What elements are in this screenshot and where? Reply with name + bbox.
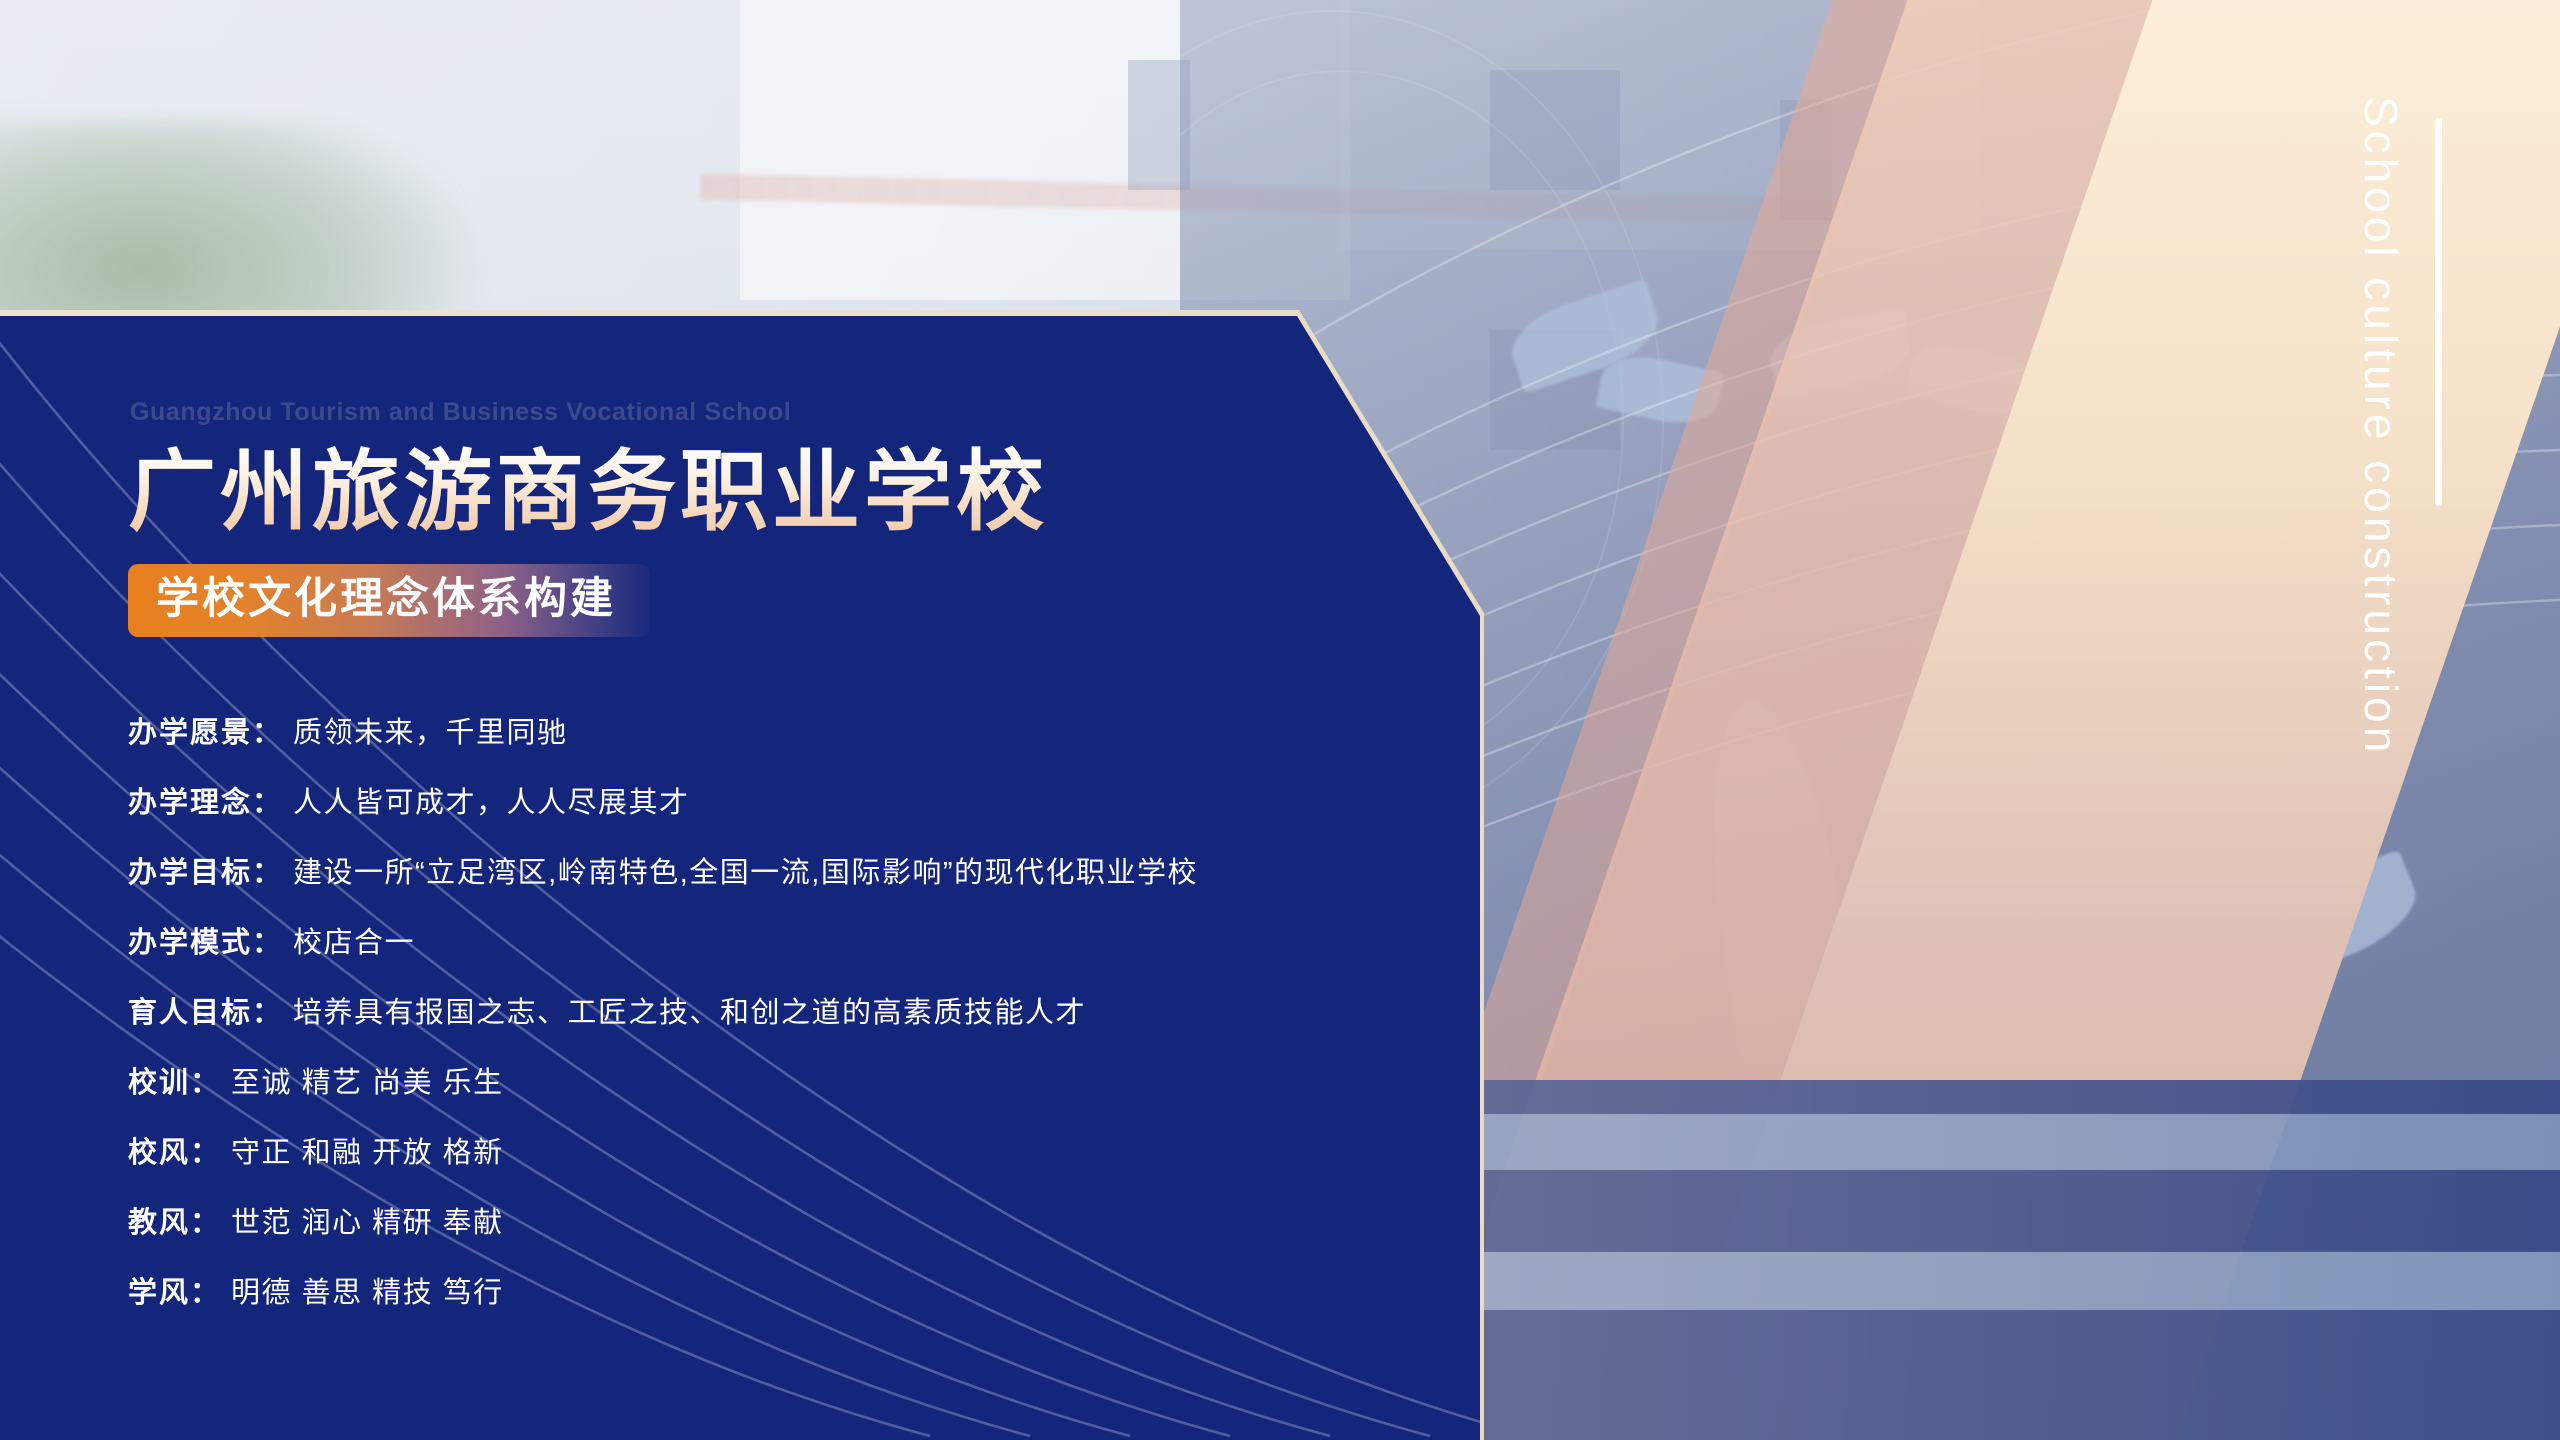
item-value: 守正 和融 开放 格新 xyxy=(231,1129,504,1171)
item-label: 校风： xyxy=(128,1129,221,1171)
item-label: 办学理念： xyxy=(128,779,283,821)
poster-content: Guangzhou Tourism and Business Vocationa… xyxy=(128,398,1448,1339)
item-value: 建设一所“立足湾区,岭南特色,全国一流,国际影响”的现代化职业学校 xyxy=(293,849,1198,891)
school-name-english: Guangzhou Tourism and Business Vocationa… xyxy=(130,398,1448,427)
stripe-light xyxy=(1440,1252,2560,1310)
item-value: 质领未来，千里同驰 xyxy=(293,709,568,751)
stripe-dark xyxy=(1440,1080,2560,1114)
list-item: 办学模式：校店合一 xyxy=(128,919,1448,961)
list-item: 校风：守正 和融 开放 格新 xyxy=(128,1129,1448,1171)
item-label: 办学模式： xyxy=(128,919,283,961)
stripe-dark xyxy=(1440,1170,2560,1252)
subtitle-badge: 学校文化理念体系构建 xyxy=(128,564,650,637)
item-label: 育人目标： xyxy=(128,989,283,1031)
item-value: 培养具有报国之志、工匠之技、和创之道的高素质技能人才 xyxy=(293,989,1086,1031)
item-label: 办学目标： xyxy=(128,849,283,891)
list-item: 办学愿景：质领未来，千里同驰 xyxy=(128,709,1448,751)
item-value: 明德 善思 精技 笃行 xyxy=(231,1269,504,1311)
item-value: 人人皆可成才，人人尽展其才 xyxy=(293,779,690,821)
vertical-caption: School culture construction xyxy=(2354,96,2408,1056)
list-item: 办学理念：人人皆可成才，人人尽展其才 xyxy=(128,779,1448,821)
item-value: 至诚 精艺 尚美 乐生 xyxy=(231,1059,504,1101)
list-item: 教风：世范 润心 精研 奉献 xyxy=(128,1199,1448,1241)
list-item: 学风：明德 善思 精技 笃行 xyxy=(128,1269,1448,1311)
item-value: 世范 润心 精研 奉献 xyxy=(231,1199,504,1241)
list-item: 育人目标：培养具有报国之志、工匠之技、和创之道的高素质技能人才 xyxy=(128,989,1448,1031)
item-label: 校训： xyxy=(128,1059,221,1101)
item-label: 教风： xyxy=(128,1199,221,1241)
stripe-dark xyxy=(1440,1310,2560,1440)
item-label: 学风： xyxy=(128,1269,221,1311)
poster-canvas: Guangzhou Tourism and Business Vocationa… xyxy=(0,0,2560,1440)
stripe-light xyxy=(1440,1114,2560,1170)
page-title: 广州旅游商务职业学校 xyxy=(128,445,1448,538)
item-value: 校店合一 xyxy=(293,919,415,961)
stripe-group xyxy=(1440,1080,2560,1440)
vertical-rule xyxy=(2435,118,2442,506)
list-item: 校训：至诚 精艺 尚美 乐生 xyxy=(128,1059,1448,1101)
list-item: 办学目标：建设一所“立足湾区,岭南特色,全国一流,国际影响”的现代化职业学校 xyxy=(128,849,1448,891)
philosophy-list: 办学愿景：质领未来，千里同驰 办学理念：人人皆可成才，人人尽展其才 办学目标：建… xyxy=(128,709,1448,1311)
item-label: 办学愿景： xyxy=(128,709,283,751)
